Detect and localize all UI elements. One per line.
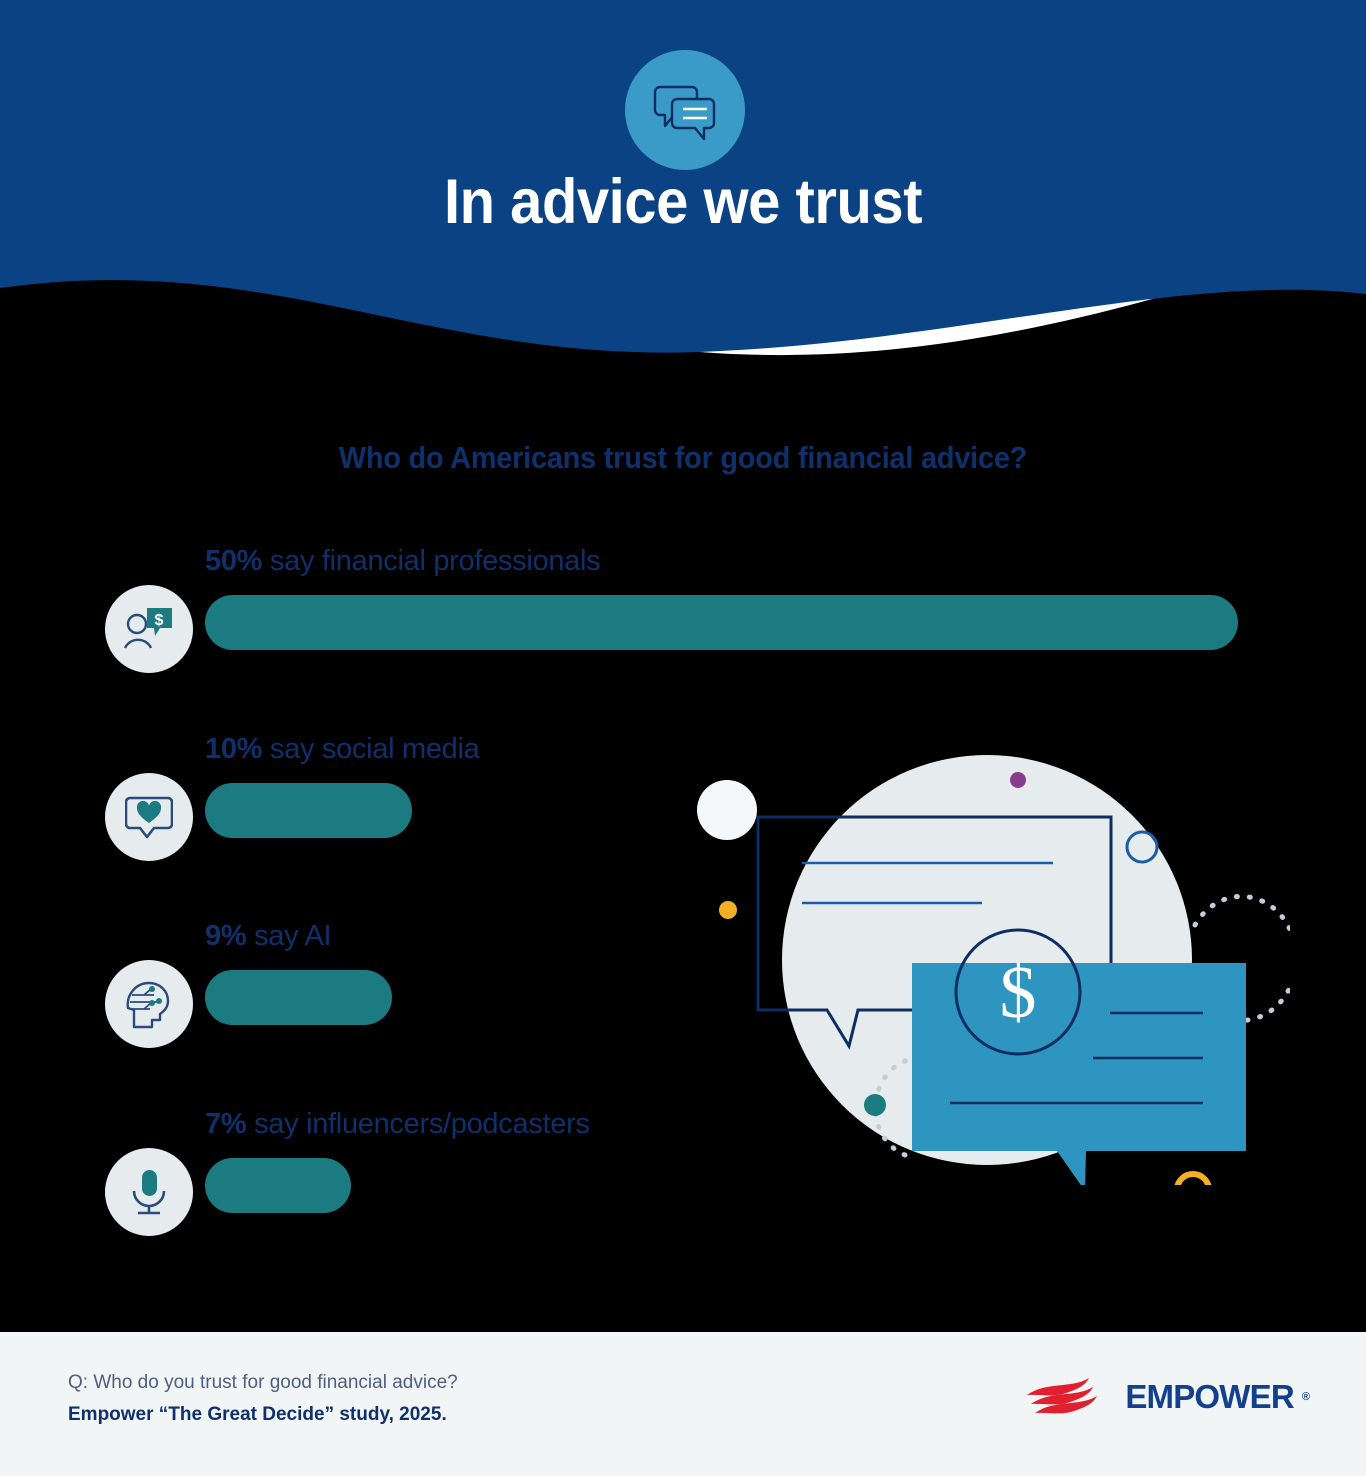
stat-text: say AI	[246, 920, 331, 952]
stat-label-ai: 9% say AI	[205, 920, 331, 953]
ai-head-icon	[105, 960, 193, 1048]
stat-percent: 7%	[205, 1108, 246, 1140]
stat-bar-financial-professionals	[205, 595, 1238, 650]
footer-question: Q: Who do you trust for good financial a…	[68, 1372, 458, 1394]
footer-source: Empower “The Great Decide” study, 2025.	[68, 1404, 447, 1426]
stat-label-financial-professionals: 50% say financial professionals	[205, 545, 600, 578]
stat-text: say financial professionals	[262, 545, 600, 577]
footer: Q: Who do you trust for good financial a…	[0, 1332, 1366, 1476]
empower-wordmark: EMPOWER	[1125, 1378, 1294, 1416]
svg-text:$: $	[155, 612, 164, 629]
stat-bar-ai	[205, 970, 392, 1025]
stat-percent: 9%	[205, 920, 246, 952]
person-money-chat-icon: $	[105, 585, 193, 673]
stat-bar-influencers	[205, 1158, 351, 1213]
stat-bar-social-media	[205, 783, 412, 838]
heart-chat-icon	[105, 773, 193, 861]
microphone-icon	[105, 1148, 193, 1236]
registered-trademark-icon: ®	[1302, 1391, 1310, 1403]
stats-chart: 50% say financial professionals $ 10% sa…	[0, 0, 1366, 1476]
stat-label-influencers: 7% say influencers/podcasters	[205, 1108, 590, 1141]
empower-logo: EMPOWER ®	[1027, 1374, 1310, 1420]
stat-percent: 10%	[205, 733, 262, 765]
stat-text: say social media	[262, 733, 479, 765]
stat-text: say influencers/podcasters	[246, 1108, 589, 1140]
empower-flag-icon	[1027, 1374, 1117, 1420]
stat-label-social-media: 10% say social media	[205, 733, 479, 766]
stat-percent: 50%	[205, 545, 262, 577]
